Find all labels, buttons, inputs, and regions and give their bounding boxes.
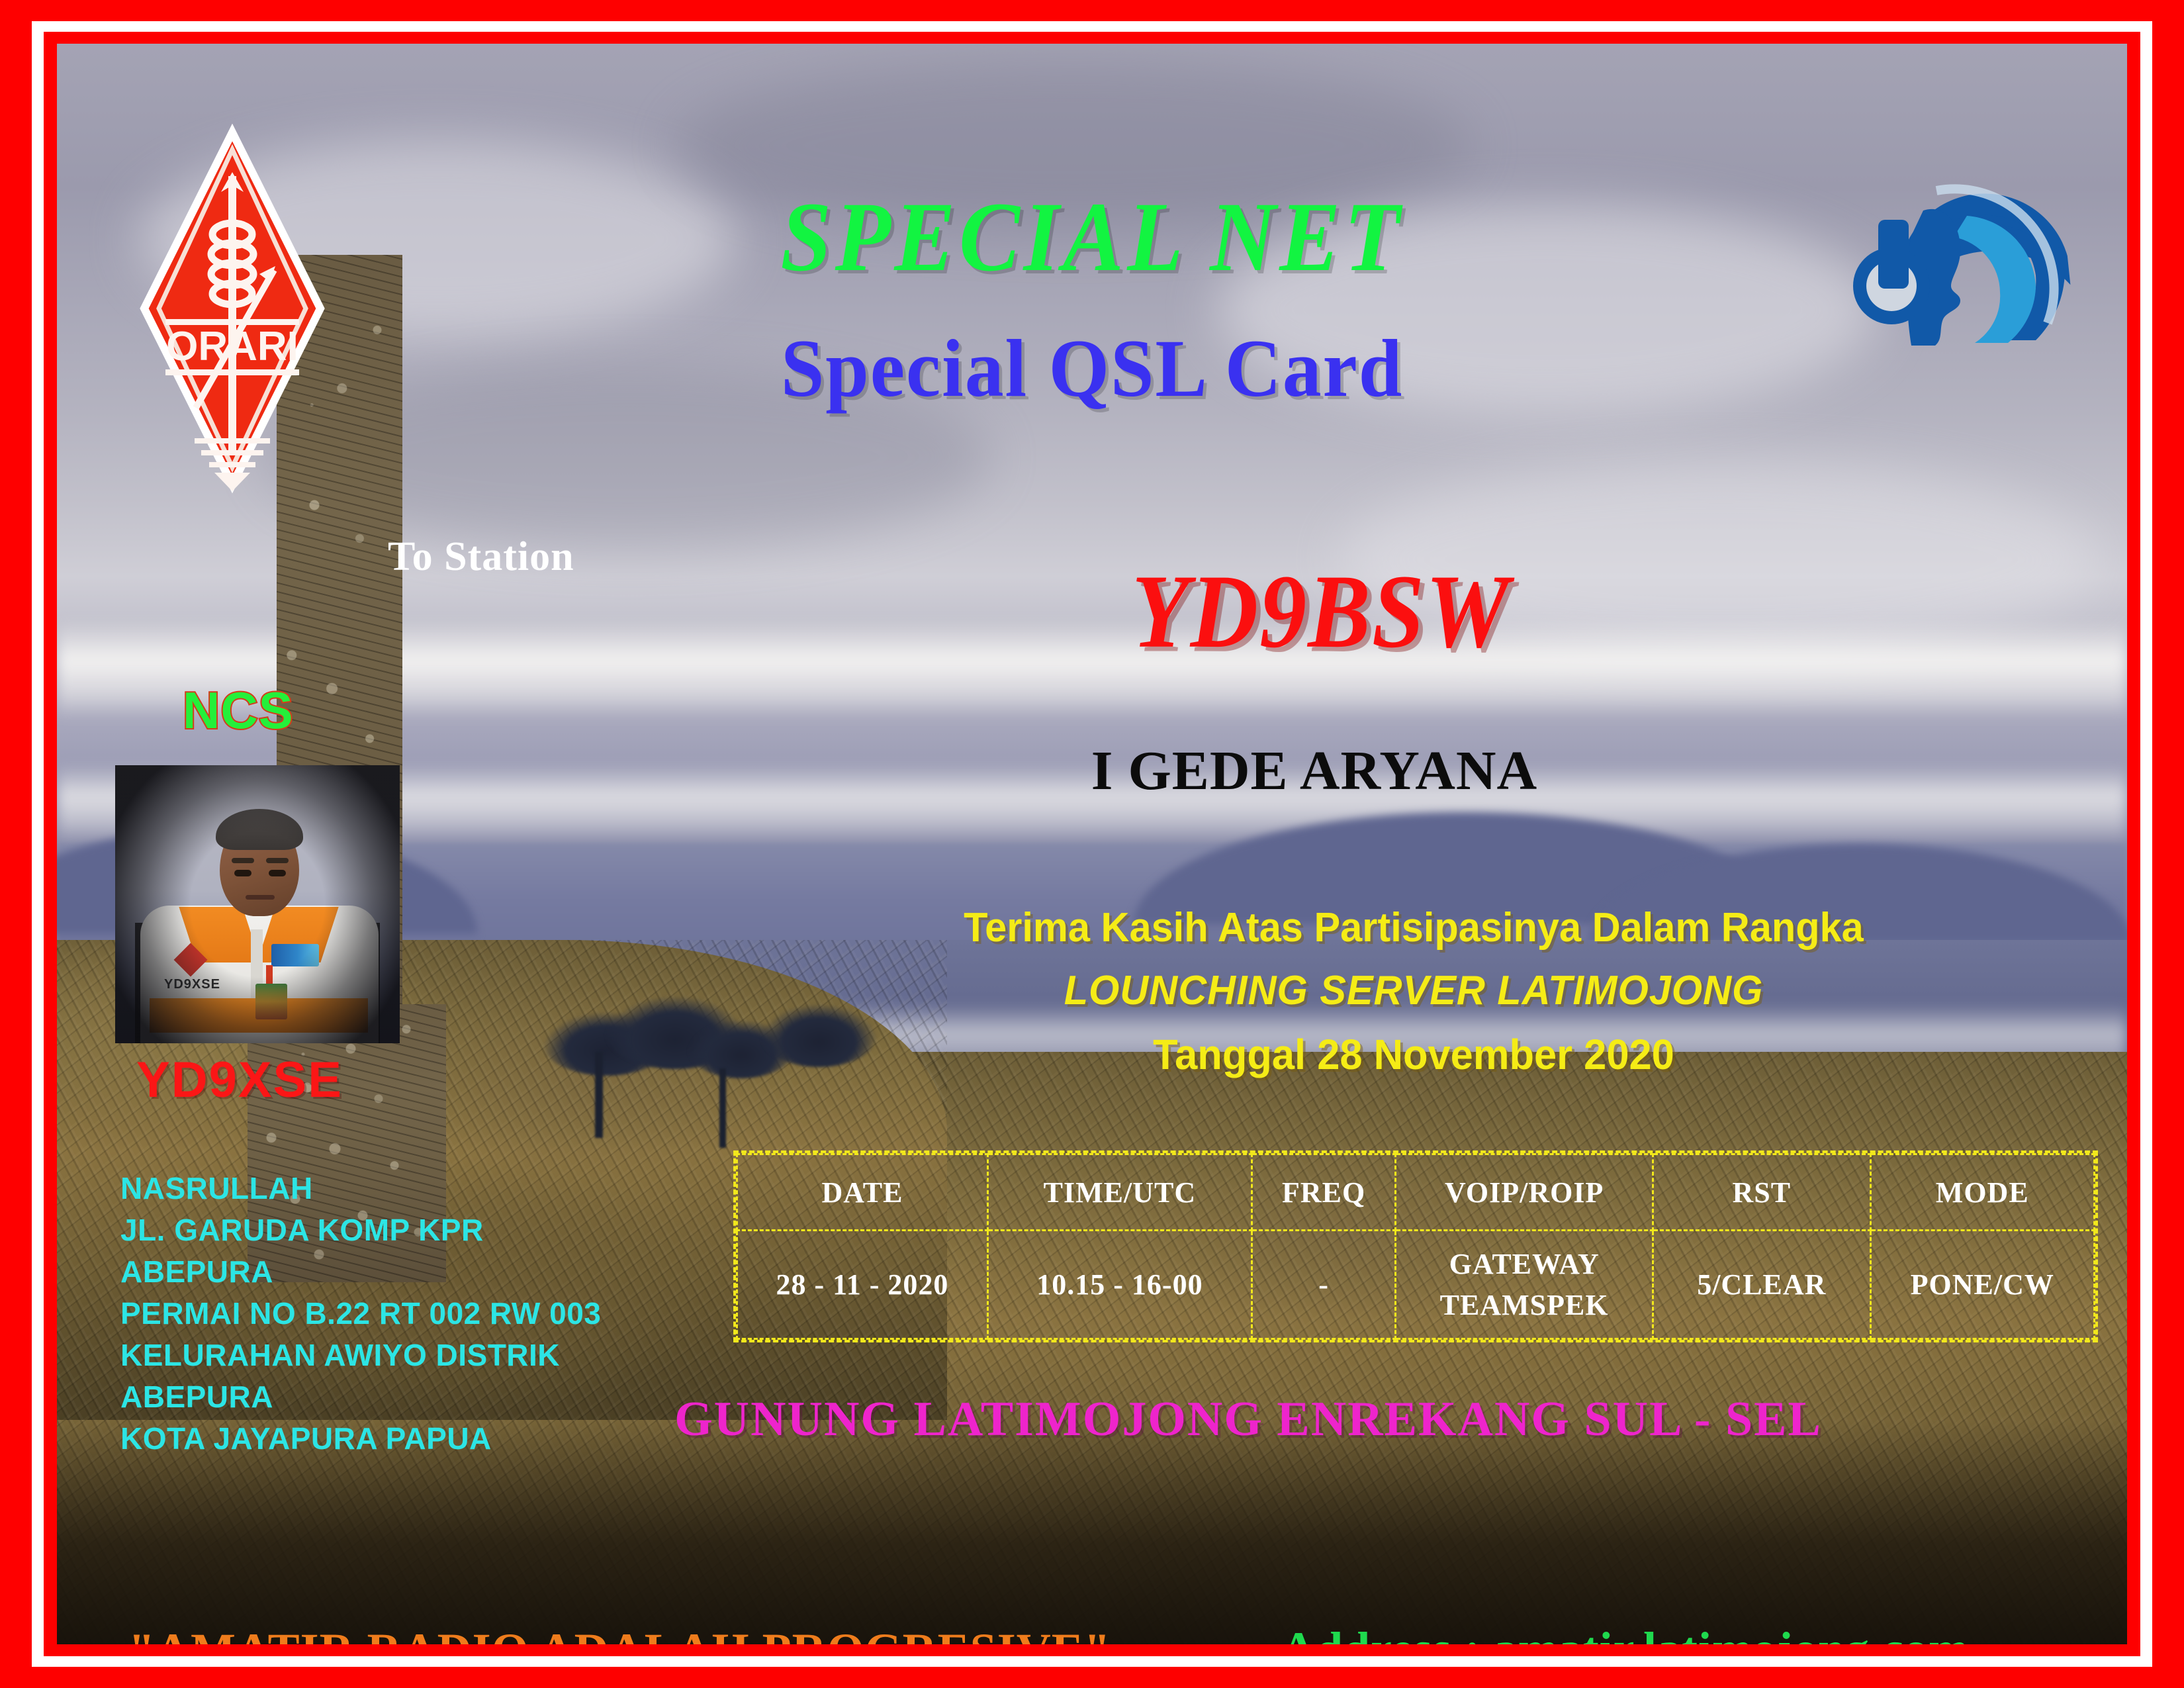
qsl-card-background-photo: ORARI <box>57 44 2127 1644</box>
ncs-operator-photo: YD9XSE <box>115 765 400 1043</box>
footer-motto: "AMATIR RADIO ADALAH PROGRESIVE" <box>128 1623 1111 1644</box>
column-header-mode: MODE <box>1870 1154 2095 1231</box>
column-header-time-utc: TIME/UTC <box>987 1154 1251 1231</box>
qsl-card-inner-red-border: ORARI <box>44 32 2140 1656</box>
address-line: JL. GARUDA KOMP KPR <box>120 1209 690 1251</box>
event-date: Tanggal 28 November 2020 <box>766 1030 2062 1079</box>
address-line: PERMAI NO B.22 RT 002 RW 003 <box>120 1293 690 1335</box>
table-header-row: DATE TIME/UTC FREQ VOIP/ROIP RST MODE <box>737 1154 2095 1231</box>
column-header-date: DATE <box>737 1154 988 1231</box>
cell-voip-line1: GATEWAY <box>1397 1244 1651 1285</box>
column-header-freq: FREQ <box>1251 1154 1395 1231</box>
to-station-label: To Station <box>388 534 574 581</box>
address-line: KELURAHAN AWIYO DISTRIK <box>120 1335 690 1376</box>
qsl-card-white-border: ORARI <box>32 21 2152 1667</box>
ncs-callsign: YD9XSE <box>136 1051 343 1109</box>
orari-diamond-logo: ORARI <box>136 123 328 494</box>
cell-voip-line2: TEAMSPEK <box>1397 1285 1651 1326</box>
recipient-operator-name: I GEDE ARYANA <box>851 739 1778 803</box>
cell-voip: GATEWAY TEAMSPEK <box>1396 1231 1653 1339</box>
cell-time: 10.15 - 16-00 <box>987 1231 1251 1339</box>
page-subtitle-qsl-card: Special QSL Card <box>109 322 2075 416</box>
location-name: GUNUNG LATIMOJONG ENREKANG SUL - SEL <box>586 1391 1910 1448</box>
cell-mode: PONE/CW <box>1870 1231 2095 1339</box>
cell-freq: - <box>1251 1231 1395 1339</box>
address-line: ABEPURA <box>120 1251 690 1293</box>
footer-web-address: Address : amatir.latimojong.com <box>1281 1622 1969 1644</box>
tree-trunk <box>595 1052 603 1138</box>
cell-rst: 5/CLEAR <box>1653 1231 1870 1339</box>
tree-trunk <box>719 1068 726 1148</box>
qso-log-table: DATE TIME/UTC FREQ VOIP/ROIP RST MODE 28… <box>733 1150 2098 1342</box>
ncs-label: NCS <box>183 680 294 741</box>
address-line: NASRULLAH <box>120 1168 690 1209</box>
recipient-callsign: YD9BSW <box>931 550 1711 672</box>
column-header-voip-roip: VOIP/ROIP <box>1396 1154 1653 1231</box>
qsl-card-outer-red-border: ORARI <box>0 0 2184 1688</box>
photo-vignette <box>115 765 400 1043</box>
thanks-message: Terima Kasih Atas Partisipasinya Dalam R… <box>766 904 2062 951</box>
table-row: 28 - 11 - 2020 10.15 - 16-00 - GATEWAY T… <box>737 1231 2095 1339</box>
cell-date: 28 - 11 - 2020 <box>737 1231 988 1339</box>
page-title-special-net: SPECIAL NET <box>140 180 2044 294</box>
column-header-rst: RST <box>1653 1154 1870 1231</box>
event-name: LOUNCHING SERVER LATIMOJONG <box>766 967 2062 1014</box>
